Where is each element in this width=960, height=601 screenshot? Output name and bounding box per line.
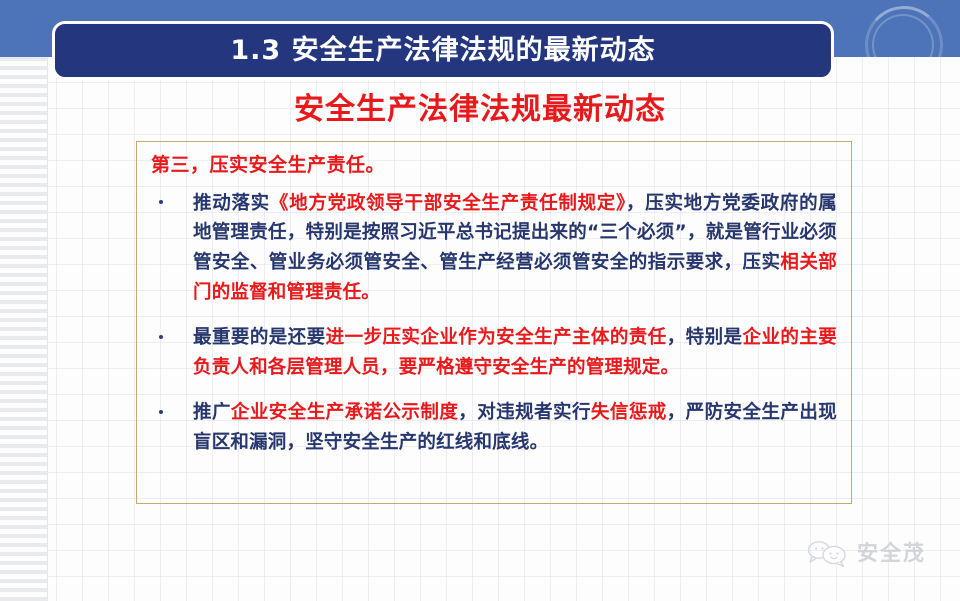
- content-panel: 第三，压实安全生产责任。 推动落实《地方党政领导干部安全生产责任制规定》，压实地…: [136, 141, 852, 504]
- bullet-text-run: 推广: [193, 402, 231, 423]
- bullet-dot-icon: [159, 200, 163, 204]
- bullet-dot-icon: [159, 410, 163, 414]
- left-stripe-edge: [47, 57, 48, 601]
- decorative-arc-inner-icon: [872, 14, 934, 76]
- content-lead-text: 第三，压实安全生产责任。: [151, 151, 837, 180]
- watermark: 安全茂: [806, 538, 926, 568]
- bullet-text-run: 推动落实: [193, 193, 270, 214]
- left-stripe-decoration: [0, 57, 48, 601]
- slide-subtitle: 安全生产法律法规最新动态: [0, 95, 960, 125]
- bullet-text-run: ，特别是: [667, 327, 743, 348]
- bullet-item: 最重要的是还要进一步压实企业作为安全生产主体的责任，特别是企业的主要负责人和各层…: [149, 323, 837, 383]
- bullet-item: 推动落实《地方党政领导干部安全生产责任制规定》，压实地方党委政府的属地管理责任，…: [149, 189, 837, 309]
- slide-title: 1.3 安全生产法律法规的最新动态: [230, 37, 655, 64]
- bullet-text-run: 《地方党政领导干部安全生产责任制规定》: [270, 193, 626, 214]
- slide-title-bar: 1.3 安全生产法律法规的最新动态: [52, 21, 834, 80]
- bullet-text-run: ，对违规者实行: [458, 402, 591, 423]
- bullet-text-run: 企业安全生产承诺公示制度: [231, 402, 458, 423]
- bullet-list: 推动落实《地方党政领导干部安全生产责任制规定》，压实地方党委政府的属地管理责任，…: [149, 189, 837, 459]
- bullet-text-run: 进一步压实企业作为安全生产主体的责任: [326, 327, 667, 348]
- bullet-text-run: 最重要的是还要: [193, 327, 326, 348]
- bullet-item: 推广企业安全生产承诺公示制度，对违规者实行失信惩戒，严防安全生产出现盲区和漏洞，…: [149, 398, 837, 458]
- wechat-bubbles-icon: [806, 538, 848, 568]
- slide-canvas: 1.3 安全生产法律法规的最新动态 安全生产法律法规最新动态 第三，压实安全生产…: [0, 0, 960, 601]
- bullet-text-run: 失信惩戒: [591, 402, 667, 423]
- watermark-label: 安全茂: [857, 543, 926, 564]
- bullet-dot-icon: [159, 335, 163, 339]
